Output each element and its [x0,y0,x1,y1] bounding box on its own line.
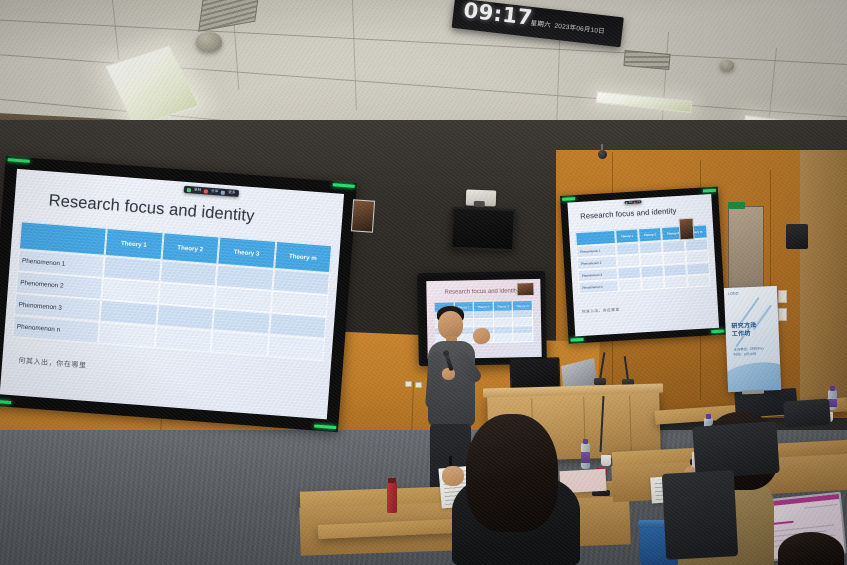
slide-title-secondary: Research focus and identity [580,206,677,221]
table-cell [267,335,325,361]
chair[interactable] [783,398,831,427]
ceiling-speaker-icon [720,60,734,71]
more-icon[interactable] [221,190,225,194]
table-header-cell: Theory m [274,241,332,273]
audience-hand [442,466,464,486]
table-header-cell: Theory 1 [615,228,639,243]
alignment-marker-icon [711,329,724,333]
toolbar-share-label: 分享 [211,189,219,195]
ceiling-speaker-icon [196,32,222,52]
table-header-cell: Theory 2 [638,227,662,242]
air-vent [623,50,670,70]
ceiling-light-panel [596,91,693,113]
clock-weekday: 星期六 [530,17,551,29]
alignment-marker-icon [570,338,583,342]
clock-date: 2023年06月10日 [554,20,605,36]
table-header-cell: Theory m [513,301,533,310]
microphone-base [594,378,606,385]
slide-secondary: Research focus and identity Theory 1 The… [567,194,719,336]
table-header-cell: Theory 2 [161,232,219,264]
table-header-cell: Theory 1 [105,228,163,260]
banner-graphic [724,359,781,392]
alignment-marker-icon [333,183,355,188]
record-icon[interactable] [625,202,627,204]
paper-cup[interactable] [601,455,611,466]
share-icon[interactable] [633,201,635,203]
banner-headline: 研究方法 工作坊 [731,323,757,339]
share-icon[interactable] [204,189,208,193]
banner-logo: LOGO [728,292,739,296]
toolbar-more-label: 更多 [228,190,236,196]
audience-hair [466,414,558,532]
tv-slide-title: Research focus and identity [444,288,518,295]
wall-tv-off[interactable] [450,207,516,251]
banner-stand [742,390,764,395]
lecture-hall-screenshot: 09:17 星期六 2023年06月10日 Research focus and… [0,0,847,565]
table-cell [211,330,269,356]
video-pip-thumbnail[interactable] [351,199,375,232]
slide-footer-note: 何其入出，你在哪里 [18,356,87,371]
slide-main: Research focus and identity Theory 1 The… [0,169,344,419]
wall-speaker-icon [786,224,808,249]
alignment-marker-icon [314,424,336,429]
bottle-cap-icon [583,439,588,444]
wall-notice [778,290,787,303]
table-cell [98,322,156,348]
projector-lens-icon [474,201,485,207]
audience-member-front [452,414,582,565]
camera-icon [598,150,607,159]
thermos-cap [388,478,396,483]
wall-notice [778,308,787,321]
roll-up-banner: LOGO 研究方法 工作坊 主办单位：研究中心 时间：6月10日 [724,286,781,392]
slide-table: Theory 1 Theory 2 Theory 3 Theory m Phen… [12,221,332,361]
bottle-cap-icon [830,386,835,391]
video-pip-thumbnail[interactable] [516,282,534,296]
bottle-label [581,452,590,463]
table-row-label: Phenomenon n [578,280,619,294]
wall-pillar [800,150,847,410]
presenter-head [438,311,463,339]
slide-footer-note-secondary: 何其入出，你在哪里 [582,308,620,315]
red-thermos[interactable] [387,482,397,513]
water-bottle[interactable] [581,443,590,469]
audience-member-foreground [778,532,844,565]
record-icon[interactable] [187,187,191,191]
banner-subtext: 主办单位：研究中心 时间：6月10日 [733,347,764,358]
presenter-hand-open [471,326,492,346]
table-cell [154,326,212,352]
toolbar-record-label: 录制 [194,188,202,194]
power-outlet-icon [405,381,412,387]
exit-sign [728,202,745,209]
video-pip-thumbnail[interactable] [678,218,694,241]
alignment-marker-icon [562,197,575,201]
table-header-cell: Theory 3 [217,237,275,269]
alignment-marker-icon [703,189,716,193]
slide-title: Research focus and identity [48,191,255,226]
alignment-marker-icon [8,158,30,163]
alignment-marker-icon [0,399,11,404]
chair[interactable] [662,470,738,560]
air-vent [198,0,260,32]
secondary-projection-screen: Research focus and identity Theory 1 The… [560,187,726,344]
projector [466,189,497,206]
audience-hair [778,532,844,565]
main-projection-screen: Research focus and identity Theory 1 The… [0,156,357,432]
chair[interactable] [692,421,779,479]
